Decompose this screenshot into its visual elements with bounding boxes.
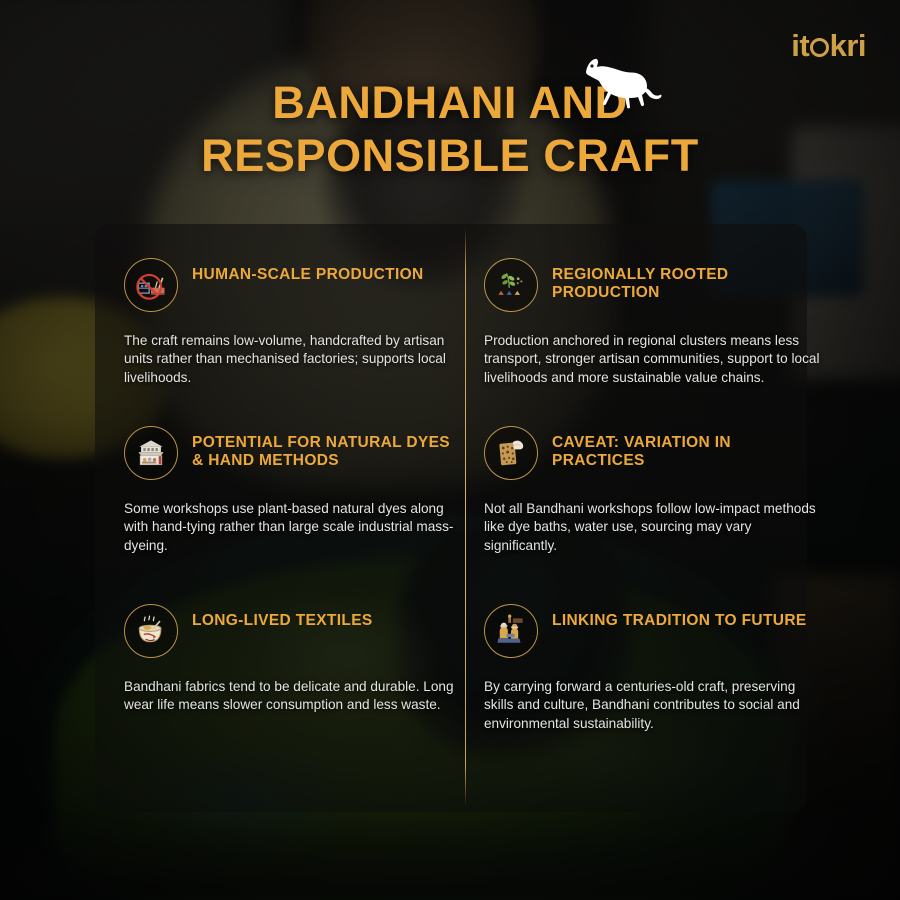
card-potential-for-natural-dyes: POTENTIAL FOR NATURAL DYES & HAND METHOD… bbox=[124, 426, 454, 555]
itokri-logo[interactable]: itkri bbox=[791, 30, 866, 61]
card-body: Not all Bandhani workshops follow low-im… bbox=[484, 500, 820, 555]
card-long-lived-textiles: LONG-LIVED TEXTILES Bandhani fabrics ten… bbox=[124, 604, 454, 715]
card-body: Some workshops use plant-based natural d… bbox=[124, 500, 454, 555]
card-title: LINKING TRADITION TO FUTURE bbox=[552, 604, 807, 630]
card-body: Bandhani fabrics tend to be delicate and… bbox=[124, 678, 454, 715]
title-line-one: BANDHANI AND bbox=[0, 76, 900, 129]
card-regionally-rooted-production: REGIONALLY ROOTED PRODUCTION Production … bbox=[484, 258, 820, 387]
card-header: LINKING TRADITION TO FUTURE bbox=[484, 604, 820, 658]
card-header: LONG-LIVED TEXTILES bbox=[124, 604, 454, 658]
card-linking-tradition-to-future: LINKING TRADITION TO FUTURE By carrying … bbox=[484, 604, 820, 733]
card-header: CAVEAT: VARIATION IN PRACTICES bbox=[484, 426, 820, 480]
plant-dye-sprout-icon bbox=[484, 258, 538, 312]
card-title: HUMAN-SCALE PRODUCTION bbox=[192, 258, 424, 284]
card-body: Production anchored in regional clusters… bbox=[484, 332, 820, 387]
two-artisans-icon bbox=[484, 604, 538, 658]
card-caveat-variation-in-practices: CAVEAT: VARIATION IN PRACTICES Not all B… bbox=[484, 426, 820, 555]
hand-holding-bandhani-fabric-icon bbox=[484, 426, 538, 480]
card-title: CAVEAT: VARIATION IN PRACTICES bbox=[552, 426, 820, 471]
card-human-scale-production: HUMAN-SCALE PRODUCTION The craft remains… bbox=[124, 258, 454, 387]
logo-text-last: kri bbox=[830, 28, 866, 63]
steaming-dye-pot-icon bbox=[124, 604, 178, 658]
card-header: POTENTIAL FOR NATURAL DYES & HAND METHOD… bbox=[124, 426, 454, 480]
page-title: BANDHANI AND RESPONSIBLE CRAFT bbox=[0, 76, 900, 182]
cow-silhouette-icon bbox=[572, 52, 668, 114]
card-header: REGIONALLY ROOTED PRODUCTION bbox=[484, 258, 820, 312]
card-title: POTENTIAL FOR NATURAL DYES & HAND METHOD… bbox=[192, 426, 454, 471]
logo-o-ring-icon bbox=[810, 38, 829, 57]
artisan-workshop-building-icon bbox=[124, 426, 178, 480]
card-body: The craft remains low-volume, handcrafte… bbox=[124, 332, 454, 387]
card-header: HUMAN-SCALE PRODUCTION bbox=[124, 258, 454, 312]
card-title: LONG-LIVED TEXTILES bbox=[192, 604, 373, 630]
column-divider bbox=[465, 228, 466, 806]
logo-text-first: it bbox=[791, 28, 809, 63]
title-line-two: RESPONSIBLE CRAFT bbox=[0, 129, 900, 182]
card-body: By carrying forward a centuries-old craf… bbox=[484, 678, 820, 733]
no-factory-icon bbox=[124, 258, 178, 312]
card-title: REGIONALLY ROOTED PRODUCTION bbox=[552, 258, 820, 303]
